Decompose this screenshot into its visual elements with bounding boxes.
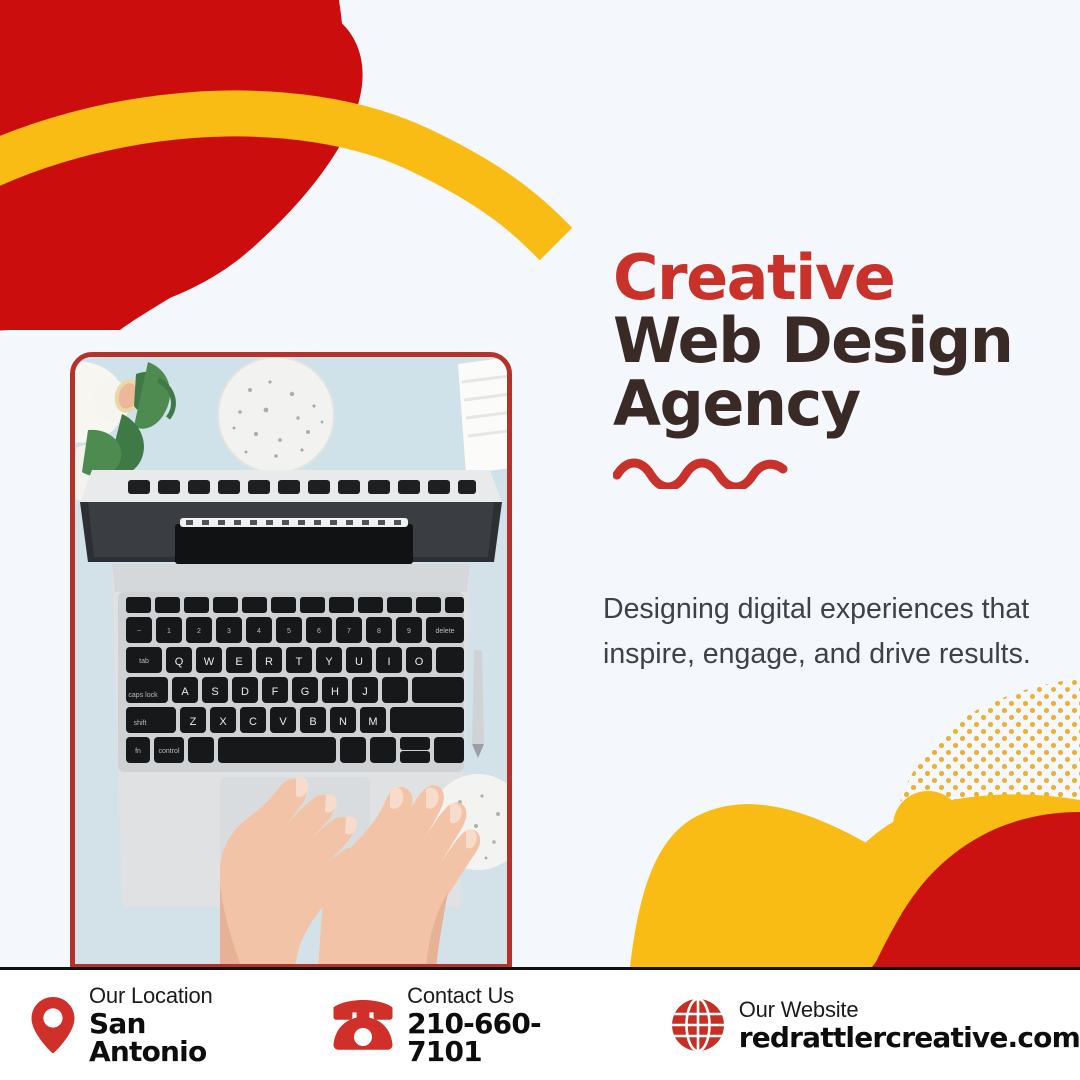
svg-text:fn: fn <box>135 748 141 755</box>
poster-canvas: QWE RTY UIO ASD FGH J ZXC VBN M ~12 345 … <box>0 0 1080 1080</box>
svg-text:A: A <box>181 686 189 698</box>
footer-website-label: Our Website <box>739 999 1080 1021</box>
svg-text:S: S <box>211 686 218 698</box>
svg-text:Z: Z <box>190 716 197 728</box>
footer-website-value: redrattlercreative.com <box>739 1024 1080 1052</box>
subtitle-text: Designing digital experiences that inspi… <box>603 587 1033 677</box>
svg-text:4: 4 <box>257 628 261 635</box>
yellow-blob-bottom-shape2 <box>820 794 1080 967</box>
svg-text:Y: Y <box>325 656 333 668</box>
red-blob-bottom-shape2 <box>874 812 1080 967</box>
svg-text:R: R <box>265 656 273 668</box>
telephone-icon <box>332 999 394 1051</box>
svg-text:5: 5 <box>287 628 291 635</box>
page-title: Creative Web Design Agency <box>613 246 1033 435</box>
headline-line-1: Creative <box>613 246 1033 309</box>
svg-text:D: D <box>241 686 249 698</box>
dot-pattern-shape <box>880 660 1080 890</box>
footer-location-value: San Antonio <box>89 1010 254 1066</box>
svg-text:caps lock: caps lock <box>128 692 158 699</box>
contact-footer: Our Location San Antonio Contact Us 210-… <box>0 970 1080 1080</box>
svg-text:B: B <box>309 716 316 728</box>
location-pin-icon <box>30 996 76 1054</box>
hero-photo: QWE RTY UIO ASD FGH J ZXC VBN M ~12 345 … <box>75 357 507 964</box>
svg-text:E: E <box>235 656 242 668</box>
dot-pattern-block <box>905 700 1080 880</box>
svg-text:N: N <box>339 716 347 728</box>
footer-location-label: Our Location <box>89 985 254 1007</box>
footer-location-text: Our Location San Antonio <box>89 985 254 1066</box>
footer-item-location[interactable]: Our Location San Antonio <box>30 985 254 1066</box>
laptop-desk-illustration: QWE RTY UIO ASD FGH J ZXC VBN M ~12 345 … <box>75 357 507 964</box>
footer-website-text: Our Website redrattlercreative.com <box>739 999 1080 1052</box>
red-blob-top-shape <box>0 0 343 330</box>
svg-text:Q: Q <box>175 656 184 668</box>
svg-text:shift: shift <box>134 720 147 727</box>
svg-text:delete: delete <box>435 628 454 635</box>
svg-text:F: F <box>272 686 279 698</box>
svg-text:tab: tab <box>139 658 149 665</box>
footer-phone-value: 210-660-7101 <box>407 1010 595 1066</box>
svg-text:control: control <box>158 748 179 755</box>
svg-text:2: 2 <box>197 628 201 635</box>
svg-text:1: 1 <box>167 628 171 635</box>
svg-text:8: 8 <box>377 628 381 635</box>
svg-text:6: 6 <box>317 628 321 635</box>
footer-item-website[interactable]: Our Website redrattlercreative.com <box>670 997 1080 1053</box>
wavy-underline-icon <box>613 455 793 489</box>
yellow-blob-bottom-shape <box>630 804 1080 967</box>
svg-text:3: 3 <box>227 628 231 635</box>
footer-phone-label: Contact Us <box>407 985 595 1007</box>
svg-text:C: C <box>249 716 257 728</box>
headline-block: Creative Web Design Agency <box>613 246 1033 489</box>
yellow-arc-shape <box>0 113 556 244</box>
globe-icon <box>670 997 726 1053</box>
footer-item-phone[interactable]: Contact Us 210-660-7101 <box>332 985 595 1066</box>
svg-text:U: U <box>355 656 363 668</box>
svg-text:O: O <box>415 656 424 668</box>
svg-text:H: H <box>331 686 339 698</box>
svg-text:I: I <box>387 656 390 668</box>
svg-text:7: 7 <box>347 628 351 635</box>
hero-photo-card: QWE RTY UIO ASD FGH J ZXC VBN M ~12 345 … <box>70 352 512 969</box>
svg-text:V: V <box>279 716 287 728</box>
yellow-circle-shape <box>893 791 963 861</box>
headline-line-2: Web Design <box>613 309 1033 372</box>
red-blob-bottom-shape <box>872 818 1080 967</box>
svg-text:X: X <box>219 716 227 728</box>
svg-text:W: W <box>204 656 215 668</box>
svg-text:M: M <box>368 716 377 728</box>
headline-line-3: Agency <box>613 372 1033 435</box>
svg-text:9: 9 <box>407 628 411 635</box>
svg-text:J: J <box>362 686 368 698</box>
red-blob-top-shape2 <box>0 0 363 332</box>
footer-phone-text: Contact Us 210-660-7101 <box>407 985 595 1066</box>
svg-text:~: ~ <box>137 628 141 635</box>
svg-text:T: T <box>296 656 303 668</box>
svg-text:G: G <box>301 686 310 698</box>
